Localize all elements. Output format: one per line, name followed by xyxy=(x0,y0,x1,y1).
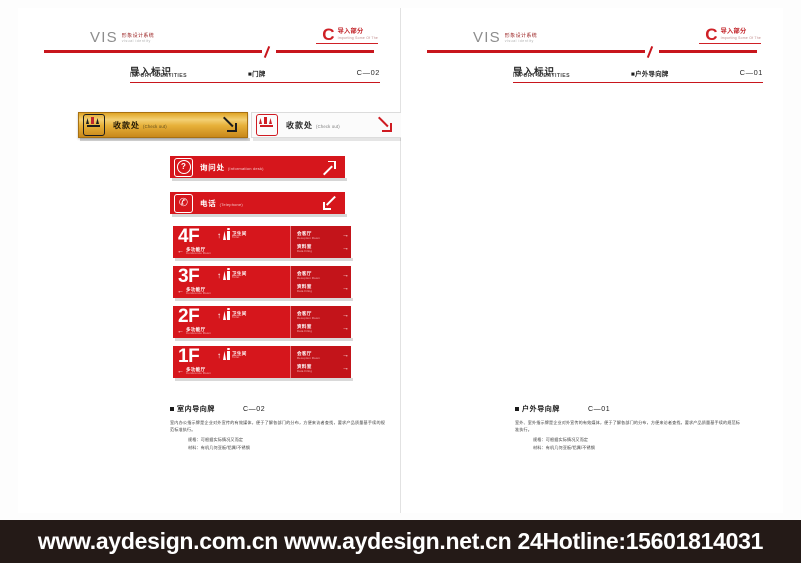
section-underline xyxy=(699,43,761,44)
page-left-header: VIS 形象设计系统 visual identity C 导入部分 Import… xyxy=(18,8,400,70)
checkout-label-en: (Check out) xyxy=(316,124,340,129)
floor-sub-item: 资料室 Data Filing → xyxy=(297,245,349,252)
page-title-block: 导入标识 IMPORT IDENTITIES ■户外导向牌 C—01 xyxy=(513,64,763,80)
floor-main-panel: 4F ↑ 卫生间 Toilet ← 多功能厅 Conference Room xyxy=(173,226,290,258)
floor-sign-1f[interactable]: 1F ↑ 卫生间 Toilet ← 多功能厅 Conference Room xyxy=(173,346,351,378)
floor-item-restroom: ↑ 卫生间 Toilet xyxy=(217,271,247,280)
arrow-right-icon: → xyxy=(342,312,349,319)
bullet-square xyxy=(170,407,174,411)
info-desk-sign[interactable]: ? 询问处 (Information desk) xyxy=(170,156,345,178)
vis-logo: VIS 形象设计系统 visual identity xyxy=(473,30,537,45)
checkout-label-cn: 收款处 xyxy=(113,120,140,131)
arrow-right-icon: → xyxy=(342,352,349,359)
floor-item-restroom: ↑ 卫生间 Toilet xyxy=(217,311,247,320)
restroom-icon xyxy=(223,311,230,320)
arrow-right-icon: → xyxy=(342,272,349,279)
checkout-gold-shadow xyxy=(80,138,250,141)
floor-sub-item: 会客厅 Reception Room → xyxy=(297,312,349,319)
telephone-label-en: (Telephone) xyxy=(220,202,243,207)
restroom-icon xyxy=(223,351,230,360)
floor-sub-item: 资料室 Data Filing → xyxy=(297,325,349,332)
caption-title: 户外导向牌 xyxy=(522,404,560,414)
footer-banner-text: www.aydesign.com.cn www.aydesign.net.cn … xyxy=(38,528,763,555)
floor-sub-item: 会客厅 Reception Room → xyxy=(297,272,349,279)
floor-sign-shadow xyxy=(175,378,353,381)
floor-sign-3f[interactable]: 3F ↑ 卫生间 Toilet ← 多功能厅 Conference Room xyxy=(173,266,351,298)
restroom-icon xyxy=(223,271,230,280)
caption-spec-material: 材料：有机几何亚板/铝属/不锈钢 xyxy=(515,444,740,451)
section-letter: C xyxy=(705,26,717,43)
section-marker: C 导入部分 Importing Some Of The xyxy=(322,26,378,43)
right-caption-block: 户外导向牌 C—01 室外、室外指示牌是企业对外宣传的有效媒体，便于了解各部门的… xyxy=(515,404,740,451)
page-code: C—01 xyxy=(740,68,763,77)
footer-banner: www.aydesign.com.cn www.aydesign.net.cn … xyxy=(0,520,801,563)
phone-icon: ✆ xyxy=(174,194,193,213)
floor-item-conference: ← 多功能厅 Conference Room xyxy=(177,248,211,255)
floor-number: 1F xyxy=(178,347,199,366)
floor-sub-item: 会客厅 Reception Room → xyxy=(297,232,349,239)
floor-sign-shadow xyxy=(175,258,353,261)
checkout-white-shadow xyxy=(253,138,405,141)
section-letter: C xyxy=(322,26,334,43)
arrow-down-left-icon xyxy=(323,197,336,210)
section-en-label: Importing Some Of The xyxy=(721,37,761,40)
page-title-en: IMPORT IDENTITIES xyxy=(513,73,570,79)
floor-sub-item: 资料室 Data Filing → xyxy=(297,285,349,292)
checkout-label-en: (Check out) xyxy=(143,124,167,129)
page-title-en: IMPORT IDENTITIES xyxy=(130,73,187,79)
floor-item-restroom: ↑ 卫生间 Toilet xyxy=(217,351,247,360)
page-title-block: 导入标识 IMPORT IDENTITIES ■门牌 C—02 xyxy=(130,64,380,80)
floor-item-label-en: Toilet xyxy=(232,236,247,239)
floor-item-conference: ← 多功能厅 Conference Room xyxy=(177,328,211,335)
checkout-label-cn: 收款处 xyxy=(286,120,313,131)
section-marker: C 导入部分 Importing Some Of The xyxy=(705,26,761,43)
vis-en-label: visual identity xyxy=(122,40,154,44)
checkout-icon xyxy=(256,114,278,136)
page-right: VIS 形象设计系统 visual identity C 导入部分 Import… xyxy=(401,8,783,513)
page-code: C—02 xyxy=(357,68,380,77)
section-en-label: Importing Some Of The xyxy=(338,37,378,40)
arrow-down-right-icon xyxy=(223,118,237,132)
floor-sub-panel: 会客厅 Reception Room → 资料室 Data Filing → xyxy=(290,346,351,378)
vis-en-label: visual identity xyxy=(505,40,537,44)
arrow-up-right-icon xyxy=(323,161,336,174)
arrow-right-icon: → xyxy=(342,232,349,239)
floor-main-panel: 3F ↑ 卫生间 Toilet ← 多功能厅 Conference Room xyxy=(173,266,290,298)
floor-sub-panel: 会客厅 Reception Room → 资料室 Data Filing → xyxy=(290,266,351,298)
info-bar-shadow xyxy=(172,178,347,181)
floor-sub-panel: 会客厅 Reception Room → 资料室 Data Filing → xyxy=(290,306,351,338)
header-rule xyxy=(427,48,757,56)
floor-sub-item: 会客厅 Reception Room → xyxy=(297,352,349,359)
telephone-label-cn: 电话 xyxy=(200,198,217,209)
caption-spec-size: 规格：可根据实际情况又而定 xyxy=(515,436,740,443)
caption-code: C—02 xyxy=(243,406,265,413)
vis-wordmark: VIS xyxy=(473,30,501,45)
bullet-square xyxy=(515,407,519,411)
floor-item-conference: ← 多功能厅 Conference Room xyxy=(177,288,211,295)
info-bar-shadow xyxy=(172,214,347,217)
vis-logo: VIS 形象设计系统 visual identity xyxy=(90,30,154,45)
checkout-sign-gold[interactable]: 收款处 (Check out) xyxy=(78,112,248,138)
floor-sub-item: 资料室 Data Filing → xyxy=(297,365,349,372)
checkout-icon xyxy=(83,114,105,136)
arrow-right-icon: → xyxy=(342,245,349,252)
floor-sub-panel: 会客厅 Reception Room → 资料室 Data Filing → xyxy=(290,226,351,258)
caption-code: C—01 xyxy=(588,406,610,413)
checkout-sign-white[interactable]: 收款处 (Check out) xyxy=(251,112,403,138)
floor-number: 4F xyxy=(178,227,199,246)
info-desk-label-en: (Information desk) xyxy=(228,166,264,171)
arrow-right-icon: → xyxy=(342,285,349,292)
caption-body: 室内办公指示牌是企业对外宣传的有效媒体，便于了解各部门的分布，方便来访者查找，要… xyxy=(170,419,385,433)
page-subject: ■户外导向牌 xyxy=(631,69,669,78)
floor-item-restroom: ↑ 卫生间 Toilet xyxy=(217,231,247,240)
restroom-icon xyxy=(223,231,230,240)
caption-body: 室外、室外指示牌是企业对外宣传的有效媒体，便于了解各部门的分布，方便来访者查找，… xyxy=(515,419,740,433)
floor-sign-shadow xyxy=(175,338,353,341)
floor-main-panel: 2F ↑ 卫生间 Toilet ← 多功能厅 Conference Room xyxy=(173,306,290,338)
header-rule xyxy=(44,48,374,56)
section-underline xyxy=(316,43,378,44)
section-cn-label: 导入部分 xyxy=(338,29,378,35)
floor-sign-4f[interactable]: 4F ↑ 卫生间 Toilet ← 多功能厅 Conference Room xyxy=(173,226,351,258)
caption-spec-material: 材料：有机几何亚板/铝属/不锈钢 xyxy=(170,444,385,451)
floor-item-label-en: Conference Room xyxy=(186,252,211,255)
page-subject: ■门牌 xyxy=(248,69,266,78)
arrow-down-right-icon xyxy=(378,118,392,132)
page-right-header: VIS 形象设计系统 visual identity C 导入部分 Import… xyxy=(401,8,783,70)
arrow-right-icon: → xyxy=(342,365,349,372)
caption-title: 室内导向牌 xyxy=(177,404,215,414)
page-left: VIS 形象设计系统 visual identity C 导入部分 Import… xyxy=(18,8,400,513)
floor-number: 2F xyxy=(178,307,199,326)
section-cn-label: 导入部分 xyxy=(721,29,761,35)
floor-sign-2f[interactable]: 2F ↑ 卫生间 Toilet ← 多功能厅 Conference Room xyxy=(173,306,351,338)
vis-manual-spread: VIS 形象设计系统 visual identity C 导入部分 Import… xyxy=(0,0,801,563)
floor-item-conference: ← 多功能厅 Conference Room xyxy=(177,368,211,375)
floor-number: 3F xyxy=(178,267,199,286)
floor-sign-shadow xyxy=(175,298,353,301)
arrow-right-icon: → xyxy=(342,325,349,332)
vis-wordmark: VIS xyxy=(90,30,118,45)
info-desk-label-cn: 询问处 xyxy=(200,162,225,173)
floor-main-panel: 1F ↑ 卫生间 Toilet ← 多功能厅 Conference Room xyxy=(173,346,290,378)
left-caption-block: 室内导向牌 C—02 室内办公指示牌是企业对外宣传的有效媒体，便于了解各部门的分… xyxy=(170,404,385,451)
telephone-sign[interactable]: ✆ 电话 (Telephone) xyxy=(170,192,345,214)
question-icon: ? xyxy=(174,158,193,177)
caption-spec-size: 规格：可根据实际情况又而定 xyxy=(170,436,385,443)
